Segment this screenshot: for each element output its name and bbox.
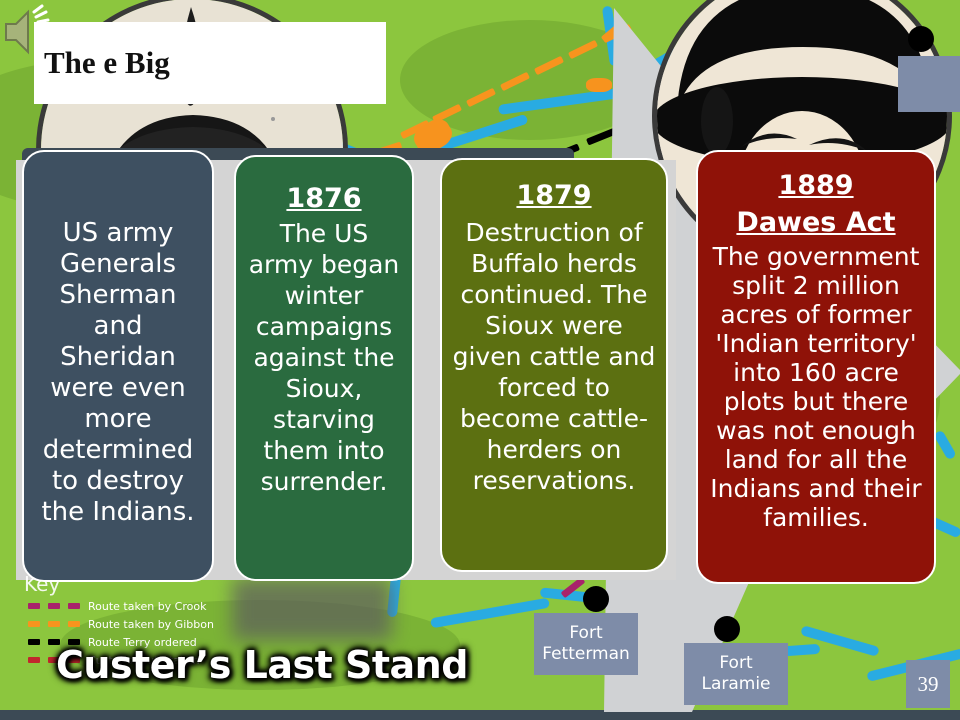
route-arrow-blot <box>586 78 612 92</box>
page-number: 39 <box>906 660 950 708</box>
dashed-line-icon <box>28 621 80 627</box>
key-item-crook: Route taken by Crook <box>24 598 214 614</box>
info-card-subheading: Dawes Act <box>708 207 924 238</box>
blur-smudge <box>232 578 392 640</box>
info-card-heading: 1876 <box>246 167 402 214</box>
info-card-generals[interactable]: US army Generals Sherman and Sheridan we… <box>22 150 214 582</box>
speaker-sound-icon[interactable] <box>2 4 60 60</box>
fort-label-hidden[interactable] <box>898 56 960 112</box>
fort-marker-dot <box>714 616 740 642</box>
fort-label-text: FortFetterman <box>542 623 630 665</box>
slide-canvas: o y The e Big US army Generals Sherman a… <box>0 0 960 720</box>
dashed-line-icon <box>28 603 80 609</box>
fort-label-laramie[interactable]: FortLaramie <box>684 643 788 705</box>
info-card-1879[interactable]: 1879 Destruction of Buffalo herds contin… <box>440 158 668 572</box>
fort-marker-dot <box>908 26 934 52</box>
key-item-gibbon: Route taken by Gibbon <box>24 616 214 632</box>
info-card-body: The US army began winter campaigns again… <box>246 218 402 497</box>
slide-bottom-bar <box>0 710 960 720</box>
wordart-custers-last-stand: Custer’s Last Stand <box>56 643 468 687</box>
key-item-label: Route taken by Crook <box>88 600 206 613</box>
fort-marker-dot <box>583 586 609 612</box>
info-card-body: The government split 2 million acres of … <box>708 242 924 532</box>
info-card-heading: 1889 <box>708 162 924 201</box>
page-title: The e Big <box>34 22 386 104</box>
info-card-heading: 1879 <box>452 170 656 211</box>
slide-title-strip: The e Big <box>34 22 386 104</box>
info-card-1889-dawes-act[interactable]: 1889 Dawes Act The government split 2 mi… <box>696 150 936 584</box>
fort-label-text: FortLaramie <box>701 653 770 695</box>
info-card-body: US army Generals Sherman and Sheridan we… <box>34 164 202 528</box>
key-item-label: Route taken by Gibbon <box>88 618 214 631</box>
fort-label-fetterman[interactable]: FortFetterman <box>534 613 638 675</box>
info-card-1876[interactable]: 1876 The US army began winter campaigns … <box>234 155 414 581</box>
info-card-body: Destruction of Buffalo herds continued. … <box>452 217 656 496</box>
route-arrow-blot <box>618 64 640 76</box>
